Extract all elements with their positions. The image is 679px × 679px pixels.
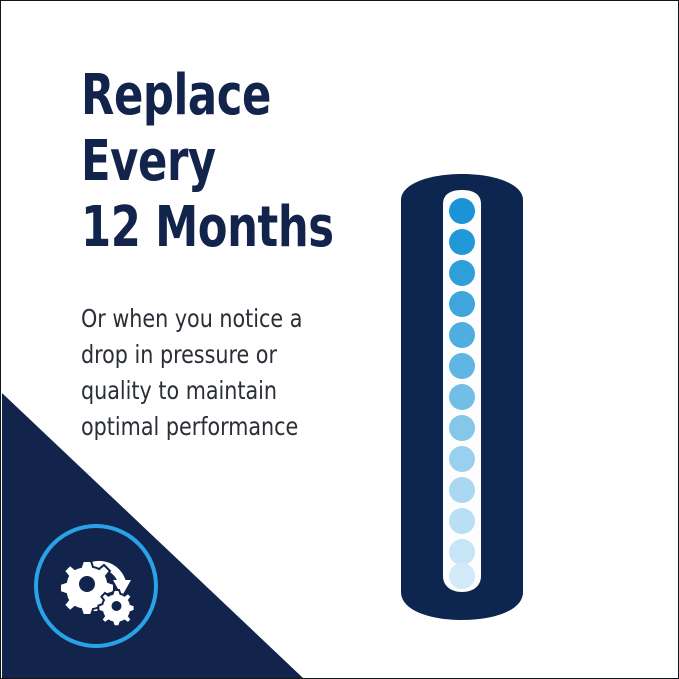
gear-small-icon <box>98 590 134 626</box>
cartridge-dot <box>449 446 475 472</box>
cartridge-dot <box>449 415 475 441</box>
text-block: Replace Every 12 Months Or when you noti… <box>81 63 401 445</box>
maintenance-cycle-badge <box>28 518 164 654</box>
cartridge-dot <box>449 539 475 565</box>
cartridge-dot <box>449 384 475 410</box>
cartridge-dot <box>449 291 475 317</box>
page-title: Replace Every 12 Months <box>81 63 356 261</box>
water-filter-cartridge-graphic <box>399 172 525 622</box>
gear-large-hub <box>79 576 95 592</box>
cartridge-dot <box>449 198 475 224</box>
cartridge-dot <box>449 229 475 255</box>
gears-refresh-cycle-icon <box>60 561 135 626</box>
cartridge-dot <box>449 322 475 348</box>
cartridge-dot <box>449 508 475 534</box>
gear-small-hub <box>112 601 122 611</box>
cartridge-dot <box>449 353 475 379</box>
cartridge-dot <box>449 260 475 286</box>
cartridge-dot <box>449 563 475 589</box>
page-subtitle: Or when you notice a drop in pressure or… <box>81 301 375 445</box>
cartridge-dot <box>449 477 475 503</box>
promo-card: Replace Every 12 Months Or when you noti… <box>0 0 679 679</box>
